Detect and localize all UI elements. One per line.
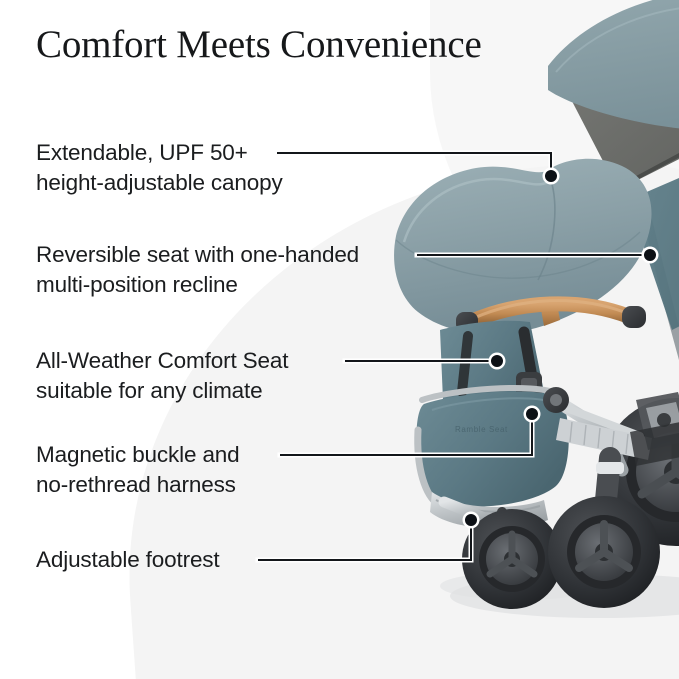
- callout-label-reversible-seat: Reversible seat with one-handed multi-po…: [36, 240, 359, 300]
- callout-label-canopy: Extendable, UPF 50+ height-adjustable ca…: [36, 138, 283, 198]
- page-title: Comfort Meets Convenience: [36, 22, 482, 67]
- brand-label: Ramble Seat: [455, 425, 508, 434]
- mid-wheel: [548, 496, 660, 608]
- front-wheel: [462, 509, 562, 609]
- infographic-canvas: Comfort Meets Convenience: [0, 0, 679, 679]
- callout-label-magnetic-buckle: Magnetic buckle and no-rethread harness: [36, 440, 240, 500]
- callout-label-footrest: Adjustable footrest: [36, 545, 220, 575]
- callout-label-comfort-seat: All-Weather Comfort Seat suitable for an…: [36, 346, 288, 406]
- product-illustration: Ramble Seat: [0, 0, 679, 679]
